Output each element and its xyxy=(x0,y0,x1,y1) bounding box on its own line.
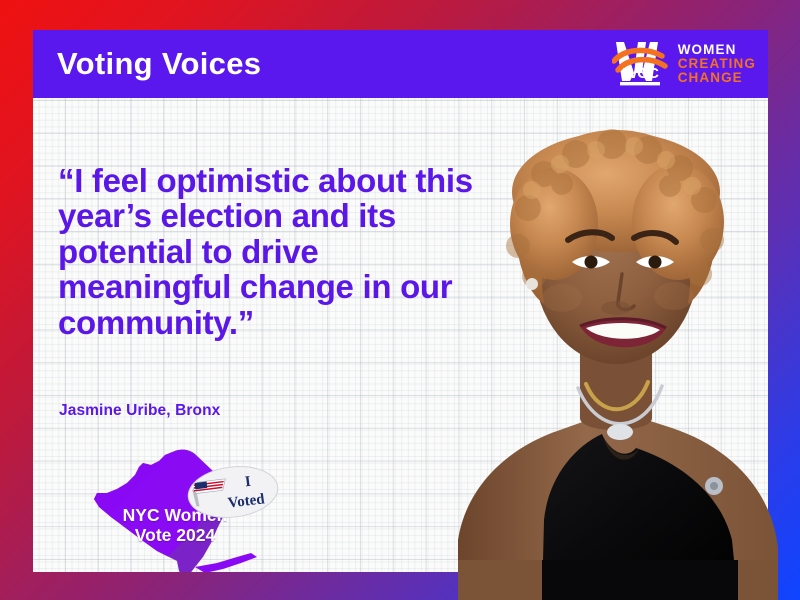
logo-line-change: CHANGE xyxy=(678,71,756,85)
quote-text: “I feel optimistic about this year’s ele… xyxy=(58,163,478,340)
svg-text:WCC: WCC xyxy=(623,65,659,82)
header-band: Voting Voices WCC xyxy=(33,30,768,98)
page-title: Voting Voices xyxy=(57,46,261,82)
logo-line-women: WOMEN xyxy=(678,43,756,57)
quote-attribution: Jasmine Uribe, Bronx xyxy=(59,402,220,420)
women-creating-change-logo[interactable]: WCC WOMEN CREATING CHANGE xyxy=(612,37,756,91)
nyc-women-vote-badge: NYC Women Vote 2024 I Vote xyxy=(91,445,276,572)
logo-line-creating: CREATING xyxy=(678,57,756,71)
grid-card: Voting Voices WCC xyxy=(33,30,768,572)
logo-wordmark: WOMEN CREATING CHANGE xyxy=(678,43,756,84)
wcc-monogram-icon: WCC xyxy=(612,37,670,91)
i-voted-sticker: I Voted xyxy=(184,460,282,525)
voting-voices-poster: Voting Voices WCC xyxy=(0,0,800,600)
